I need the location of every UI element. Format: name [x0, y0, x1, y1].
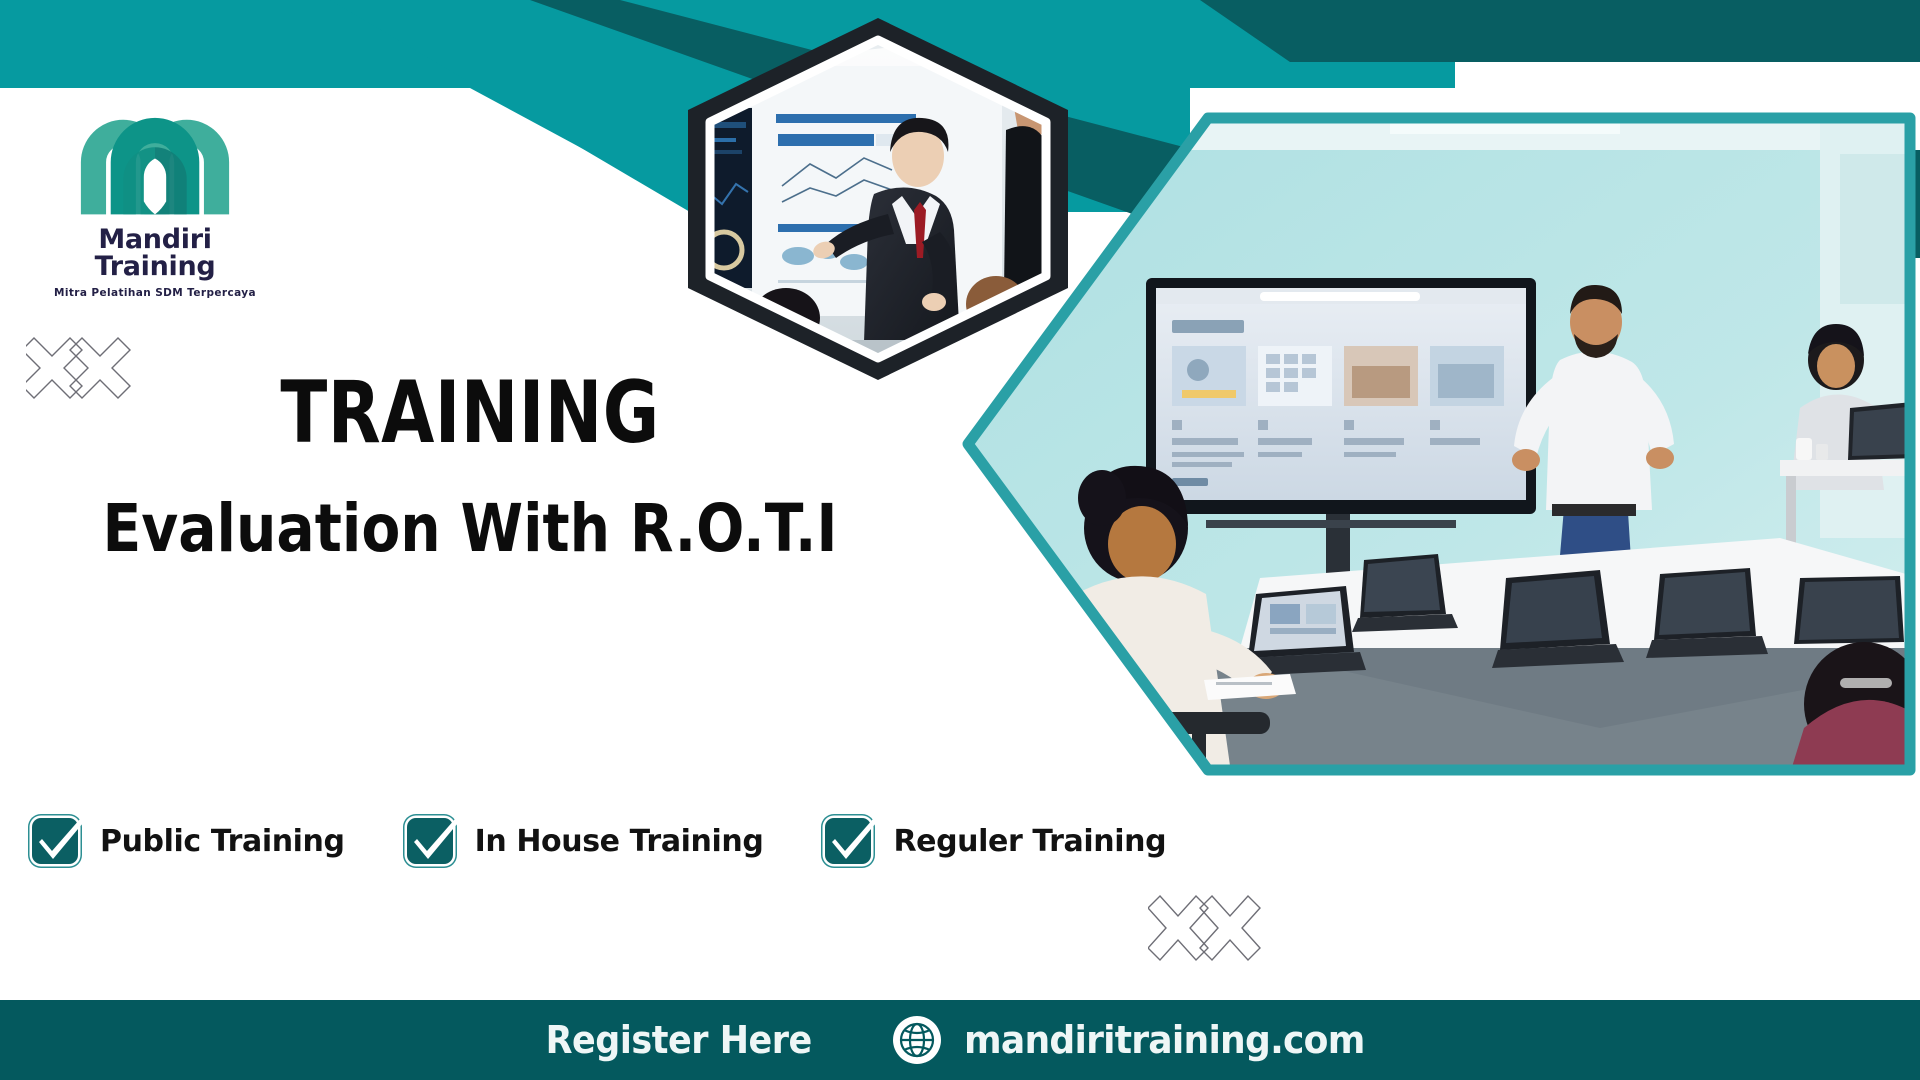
- page-subtitle: Evaluation With R.O.T.I: [66, 496, 874, 562]
- training-option-reguler[interactable]: Reguler Training: [825, 818, 1166, 864]
- training-option-in-house[interactable]: In House Training: [407, 818, 764, 864]
- website-url[interactable]: mandiritraining.com: [964, 1018, 1365, 1062]
- x-outline-icon: [1148, 888, 1272, 968]
- training-options-list: Public Training In House Training Regule…: [32, 818, 1166, 864]
- check-mark-icon: [823, 809, 881, 867]
- checkbox-checked-icon[interactable]: [825, 818, 871, 864]
- hex-photo-classroom: [960, 108, 1920, 780]
- training-option-label: In House Training: [475, 824, 764, 859]
- register-label: Register Here: [546, 1018, 812, 1062]
- check-mark-icon: [30, 809, 88, 867]
- brand-logo: Mandiri Training Mitra Pelatihan SDM Ter…: [40, 110, 270, 299]
- training-option-label: Public Training: [100, 824, 345, 859]
- checkbox-checked-icon[interactable]: [32, 818, 78, 864]
- globe-icon: [892, 1015, 942, 1065]
- footer-bar: Register Here mandiritraining.com: [0, 1000, 1920, 1080]
- page-title: TRAINING: [94, 370, 846, 456]
- cross-cluster-bottom: [1148, 888, 1272, 973]
- check-mark-icon: [405, 809, 463, 867]
- band-top-right-dark: [1200, 0, 1920, 62]
- mandiri-m-monogram-icon: [80, 110, 230, 220]
- training-option-label: Reguler Training: [893, 824, 1166, 859]
- brand-name: Mandiri Training: [40, 226, 270, 280]
- checkbox-checked-icon[interactable]: [407, 818, 453, 864]
- poster-canvas: Mandiri Training Mitra Pelatihan SDM Ter…: [0, 0, 1920, 1080]
- headline-block: TRAINING Evaluation With R.O.T.I: [0, 370, 940, 562]
- training-option-public[interactable]: Public Training: [32, 818, 345, 864]
- brand-tagline: Mitra Pelatihan SDM Terpercaya: [40, 287, 270, 299]
